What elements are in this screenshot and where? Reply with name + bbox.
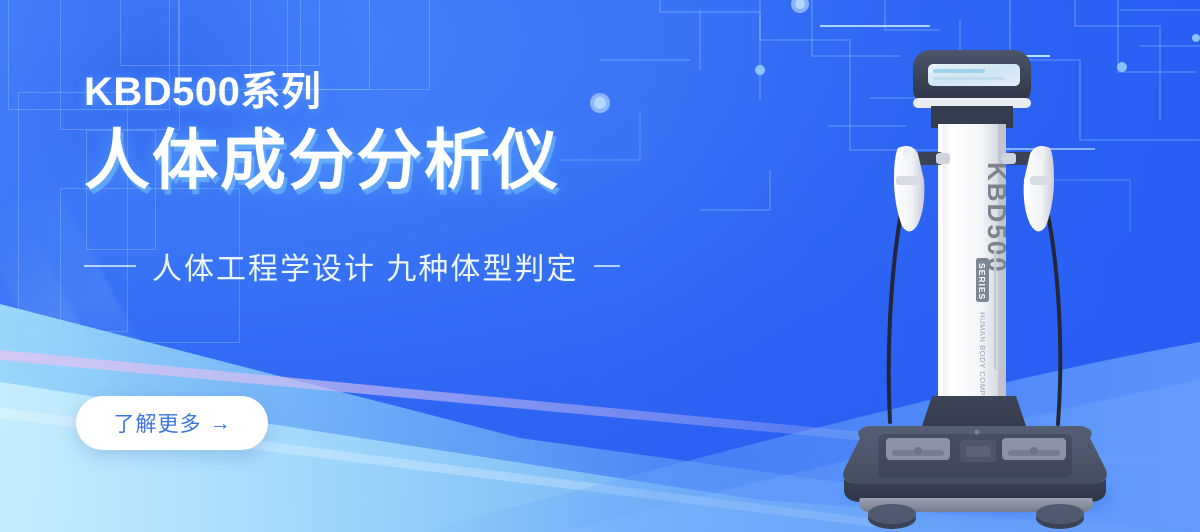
device-series-badge: SERIES [977,263,987,300]
eyebrow-text: KBD500系列 [84,70,684,115]
learn-more-button[interactable]: 了解更多 → [76,396,268,450]
subtitle-dash-left [84,265,136,267]
subtitle-text: 人体工程学设计 九种体型判定 [152,244,578,288]
subtitle-row: 人体工程学设计 九种体型判定 [84,244,684,288]
hero-banner: KBD500系列 人体成分分析仪 人体工程学设计 九种体型判定 了解更多 → [0,0,1200,532]
subtitle-dash-right [594,265,620,267]
learn-more-label: 了解更多 [114,408,202,438]
hero-copy: KBD500系列 人体成分分析仪 人体工程学设计 九种体型判定 [84,70,684,288]
device-model-text: KBD500 [982,162,1012,274]
arrow-right-icon: → [210,413,231,434]
device-image: KBD500 SERIES HUMAN BODY COMPOSITION ANA… [820,20,1160,532]
page-title: 人体成分分析仪 [84,123,684,198]
